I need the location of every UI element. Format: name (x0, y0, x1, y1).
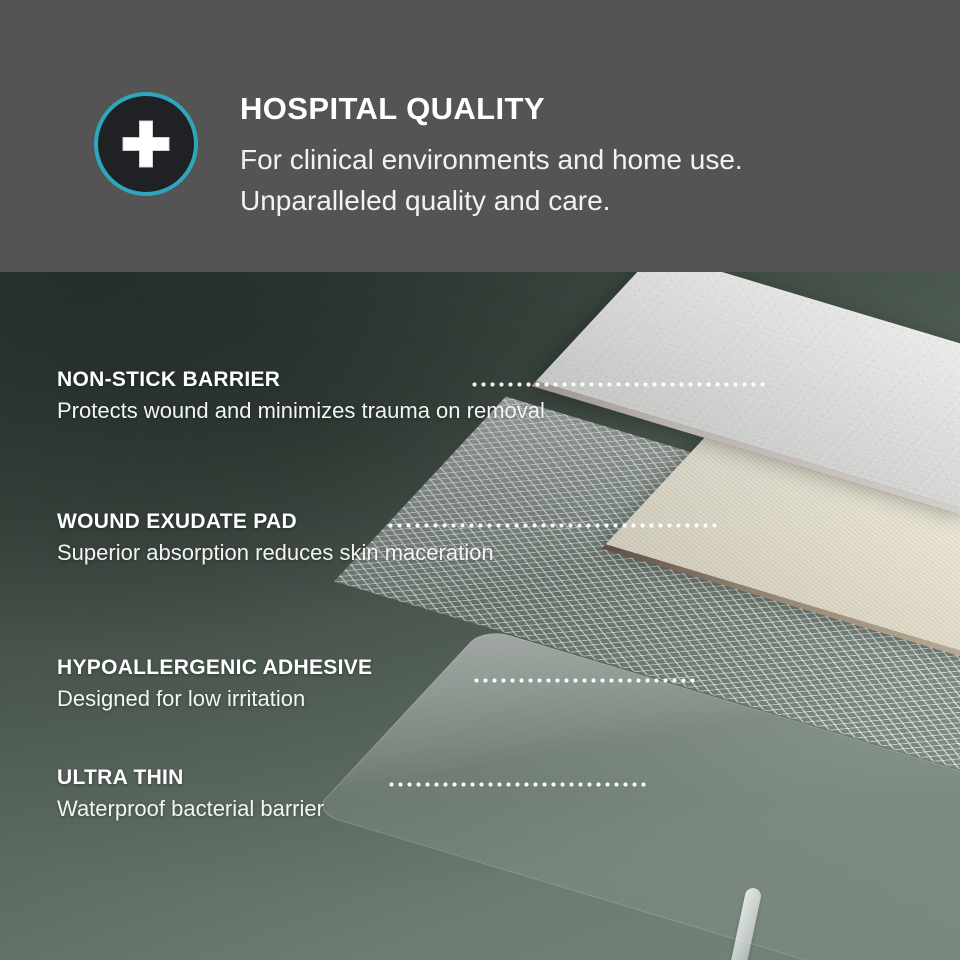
header-subtitle: For clinical environments and home use. … (240, 140, 860, 221)
feature-description: Designed for low irritation (57, 685, 372, 713)
header-text-block: HOSPITAL QUALITY For clinical environmen… (240, 92, 900, 221)
feature-description: Protects wound and minimizes trauma on r… (57, 397, 545, 425)
leader-line-hypoallergenic-adhesive (472, 678, 699, 683)
feature-callout-ultra-thin: ULTRA THIN Waterproof bacterial barrier (57, 766, 324, 823)
header-title: HOSPITAL QUALITY (240, 92, 900, 126)
leader-line-wound-exudate-pad (386, 523, 719, 528)
feature-callout-wound-exudate-pad: WOUND EXUDATE PAD Superior absorption re… (57, 510, 494, 567)
feature-callout-non-stick-barrier: NON-STICK BARRIER Protects wound and min… (57, 368, 545, 425)
product-feature-infographic: HOSPITAL QUALITY For clinical environmen… (0, 0, 960, 960)
feature-title: ULTRA THIN (57, 766, 324, 790)
feature-callout-hypoallergenic-adhesive: HYPOALLERGENIC ADHESIVE Designed for low… (57, 656, 372, 713)
feature-callout-list: NON-STICK BARRIER Protects wound and min… (0, 272, 960, 960)
feature-title: NON-STICK BARRIER (57, 368, 545, 392)
feature-description: Waterproof bacterial barrier (57, 795, 324, 823)
leader-line-non-stick-barrier (470, 382, 766, 387)
header-band: HOSPITAL QUALITY For clinical environmen… (0, 0, 960, 272)
feature-title: WOUND EXUDATE PAD (57, 510, 494, 534)
feature-title: HYPOALLERGENIC ADHESIVE (57, 656, 372, 680)
leader-line-ultra-thin (387, 782, 646, 787)
medical-cross-icon (94, 92, 198, 196)
feature-description: Superior absorption reduces skin macerat… (57, 539, 494, 567)
